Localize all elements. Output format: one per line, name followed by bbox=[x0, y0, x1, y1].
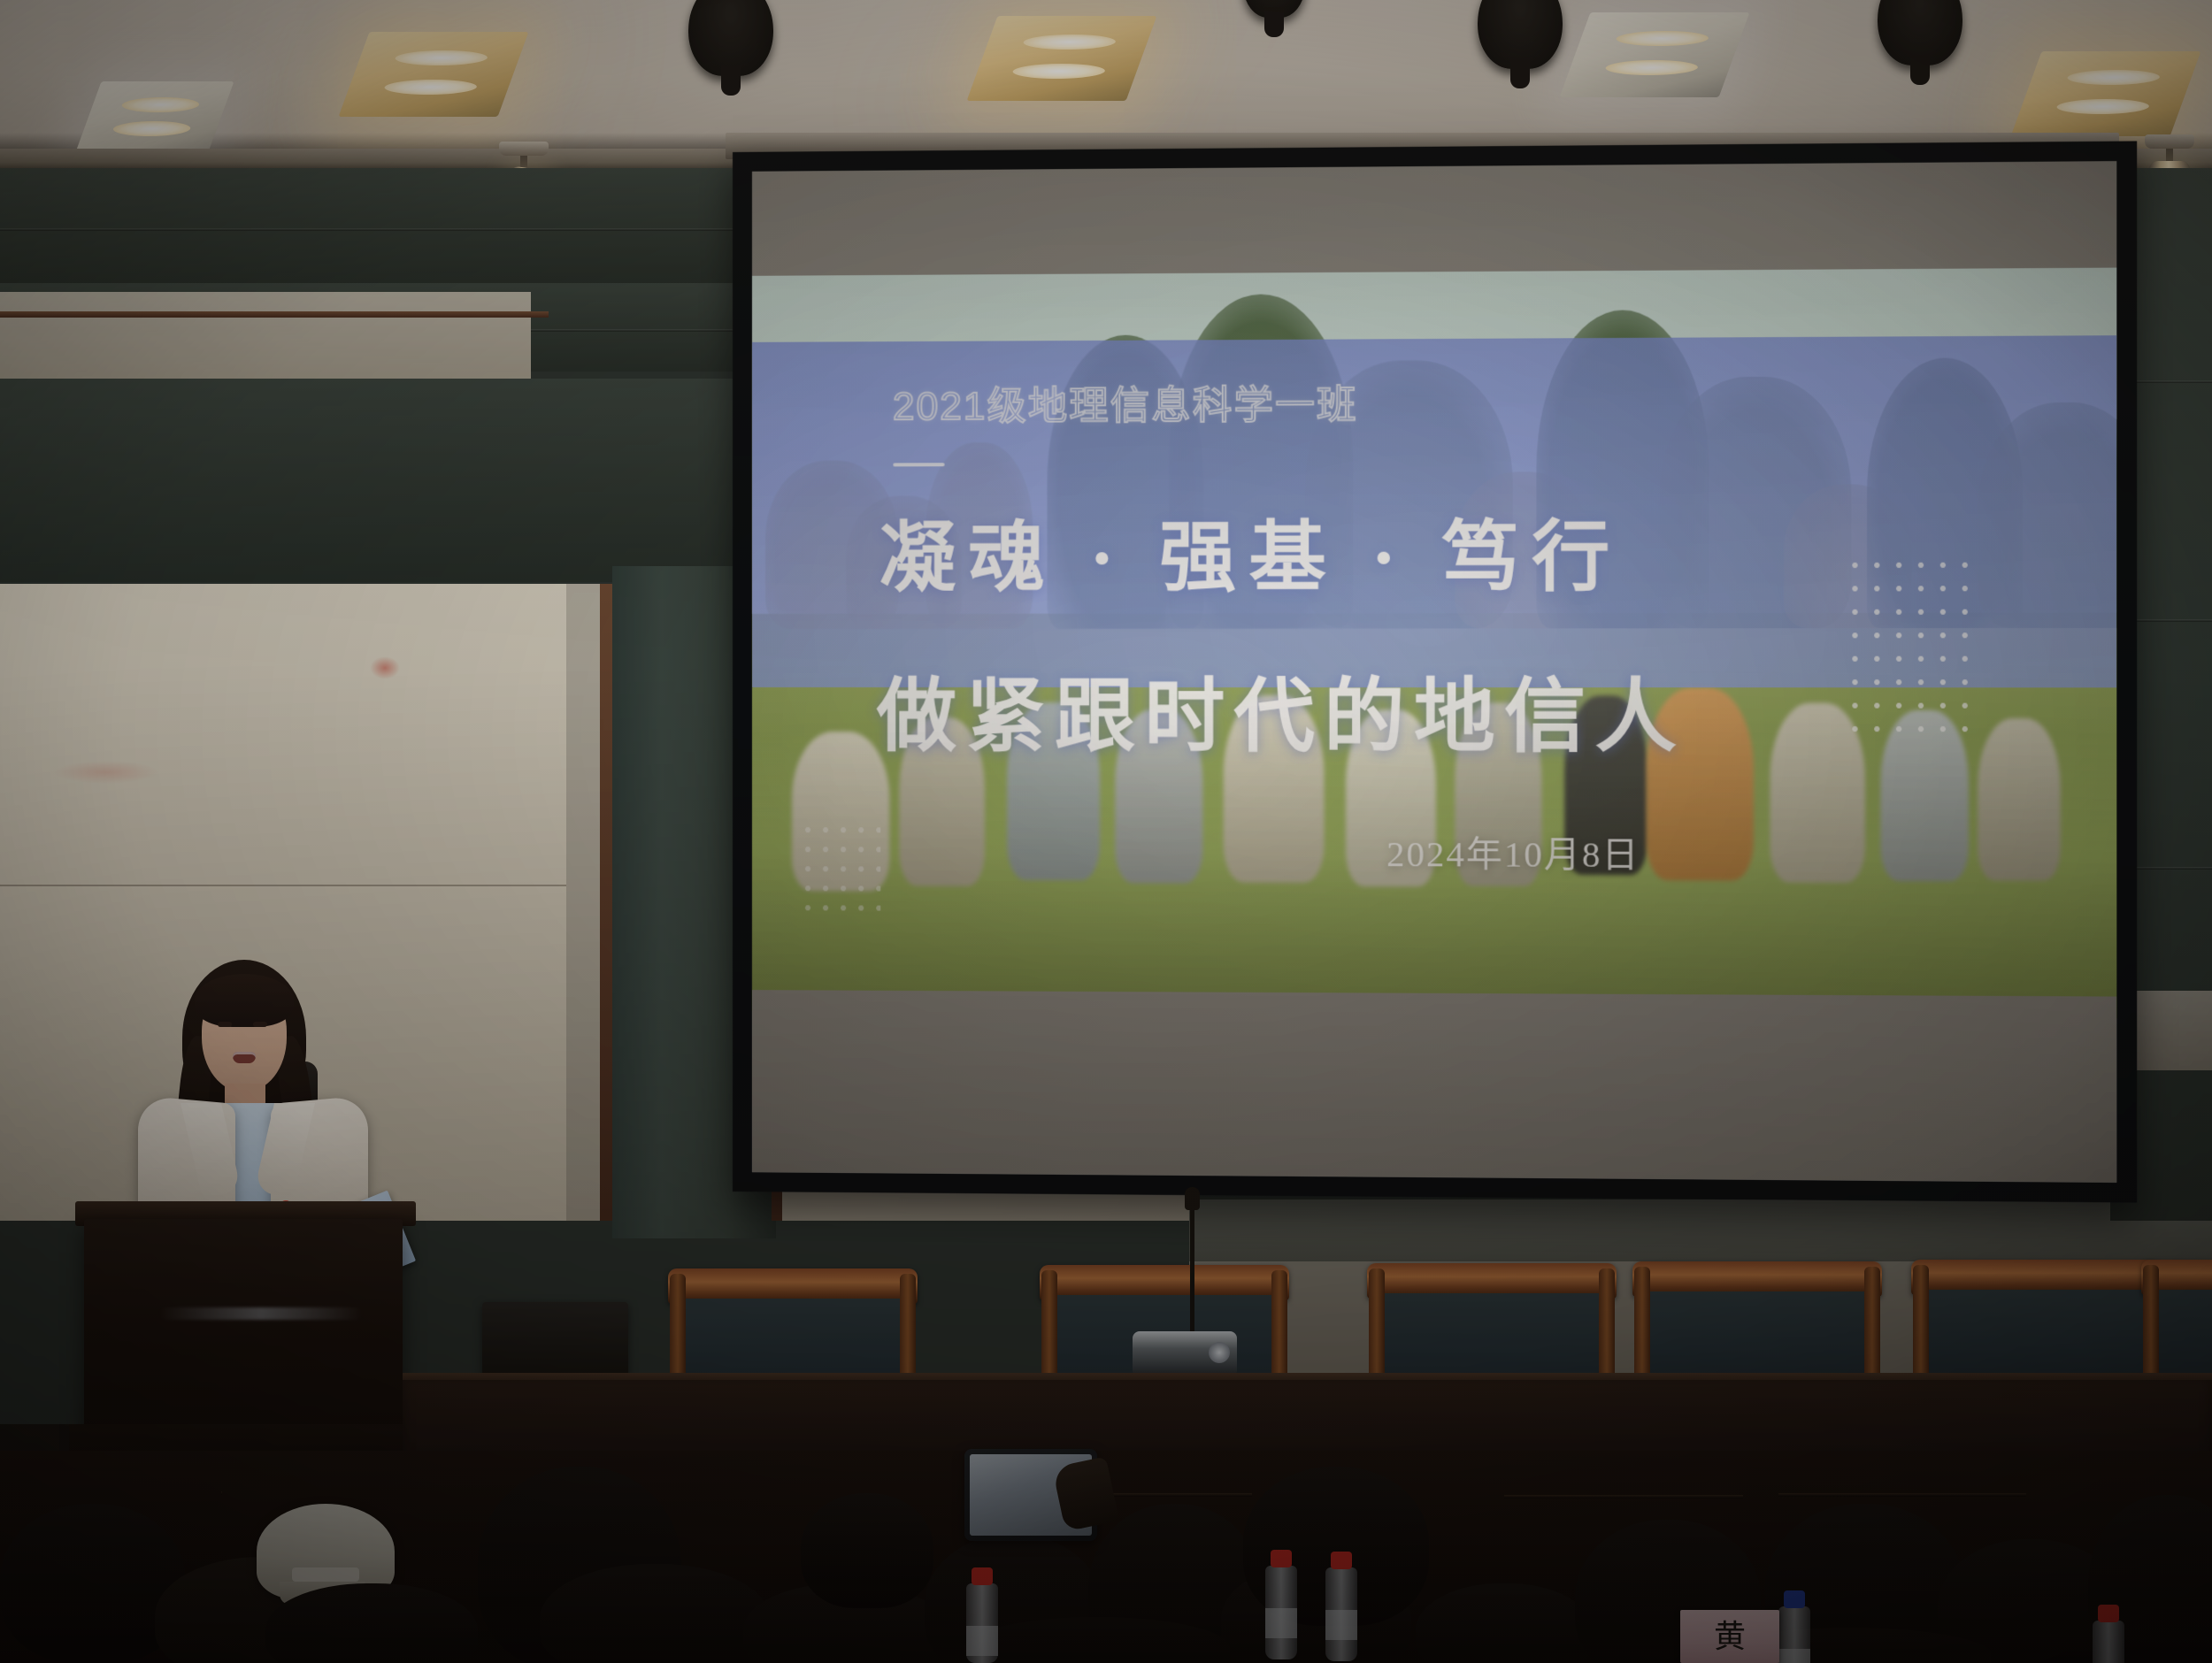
projection-screen: 2021级地理信息科学一班 凝魂 · 强基 · 笃行 做紧跟时代的地信人 202… bbox=[733, 141, 2137, 1202]
slide-date-text: 2024年10月8日 bbox=[1386, 825, 1640, 877]
slide-letterbox-top bbox=[752, 161, 2116, 276]
audience-head bbox=[1416, 1583, 1593, 1663]
wall-seam bbox=[0, 885, 566, 886]
recessed-downlight-icon bbox=[1560, 12, 1750, 97]
recessed-downlight-icon bbox=[2011, 51, 2201, 136]
slide-eyebrow-text: 2021级地理信息科学一班 bbox=[893, 372, 1358, 432]
track-spotlight-icon bbox=[1878, 0, 1962, 65]
panel-seam bbox=[1778, 1493, 2026, 1497]
slide-dot-pattern bbox=[799, 820, 880, 917]
water-bottle bbox=[966, 1583, 998, 1663]
audience-cap-strap bbox=[292, 1567, 359, 1582]
screenshot-root: 2021级地理信息科学一班 凝魂 · 强基 · 笃行 做紧跟时代的地信人 202… bbox=[0, 0, 2212, 1663]
wall-panel bbox=[0, 379, 734, 582]
wall-mark bbox=[53, 761, 159, 784]
slide-title-line-1: 凝魂 · 强基 · 笃行 bbox=[879, 494, 1623, 608]
track-spotlight-icon bbox=[1478, 0, 1563, 69]
speaker-eye bbox=[253, 1022, 267, 1027]
slide-letterbox-bottom bbox=[752, 990, 2116, 1183]
wall-panel bbox=[1189, 1199, 2212, 1261]
wall-panel-beige bbox=[566, 584, 602, 1221]
water-bottle bbox=[1778, 1606, 1810, 1663]
slide-rule bbox=[893, 463, 944, 466]
wall-panel bbox=[0, 168, 734, 283]
recessed-downlight-icon bbox=[75, 81, 234, 152]
screen-surface: 2021级地理信息科学一班 凝魂 · 强基 · 笃行 做紧跟时代的地信人 202… bbox=[752, 161, 2116, 1183]
slide-content: 2021级地理信息科学一班 凝魂 · 强基 · 笃行 做紧跟时代的地信人 202… bbox=[752, 268, 2116, 1018]
wall-mark bbox=[370, 656, 400, 679]
water-bottle bbox=[1265, 1566, 1297, 1659]
audience-head bbox=[265, 1583, 478, 1663]
speaker-mouth bbox=[233, 1052, 256, 1063]
laptop-device bbox=[482, 1302, 628, 1380]
projector-device bbox=[1133, 1331, 1237, 1377]
speaker-hair bbox=[195, 974, 294, 1027]
wall-seam bbox=[0, 228, 734, 231]
wall-trim bbox=[0, 311, 549, 318]
panel-seam bbox=[1504, 1495, 1743, 1498]
podium-highlight bbox=[159, 1307, 363, 1320]
name-placard-text: 黄 bbox=[1714, 1621, 1746, 1652]
table-microphone bbox=[1190, 1203, 1194, 1337]
water-bottle bbox=[1325, 1567, 1357, 1661]
panel-seam bbox=[221, 1491, 222, 1495]
recessed-downlight-icon bbox=[967, 16, 1157, 101]
name-placard: 黄 bbox=[1680, 1610, 1779, 1663]
slide-dot-pattern bbox=[1844, 553, 1970, 747]
audience-head bbox=[540, 1564, 770, 1663]
track-spotlight-icon bbox=[688, 0, 773, 76]
speaker-eye bbox=[218, 1022, 232, 1027]
slide-title-line-2: 做紧跟时代的地信人 bbox=[877, 650, 1686, 767]
wall-trim bbox=[600, 584, 612, 1221]
water-bottle bbox=[2093, 1621, 2124, 1663]
recessed-downlight-icon bbox=[339, 32, 529, 117]
speaker-person bbox=[133, 960, 398, 1243]
wall-panel bbox=[0, 292, 531, 389]
audience-head bbox=[801, 1493, 933, 1608]
